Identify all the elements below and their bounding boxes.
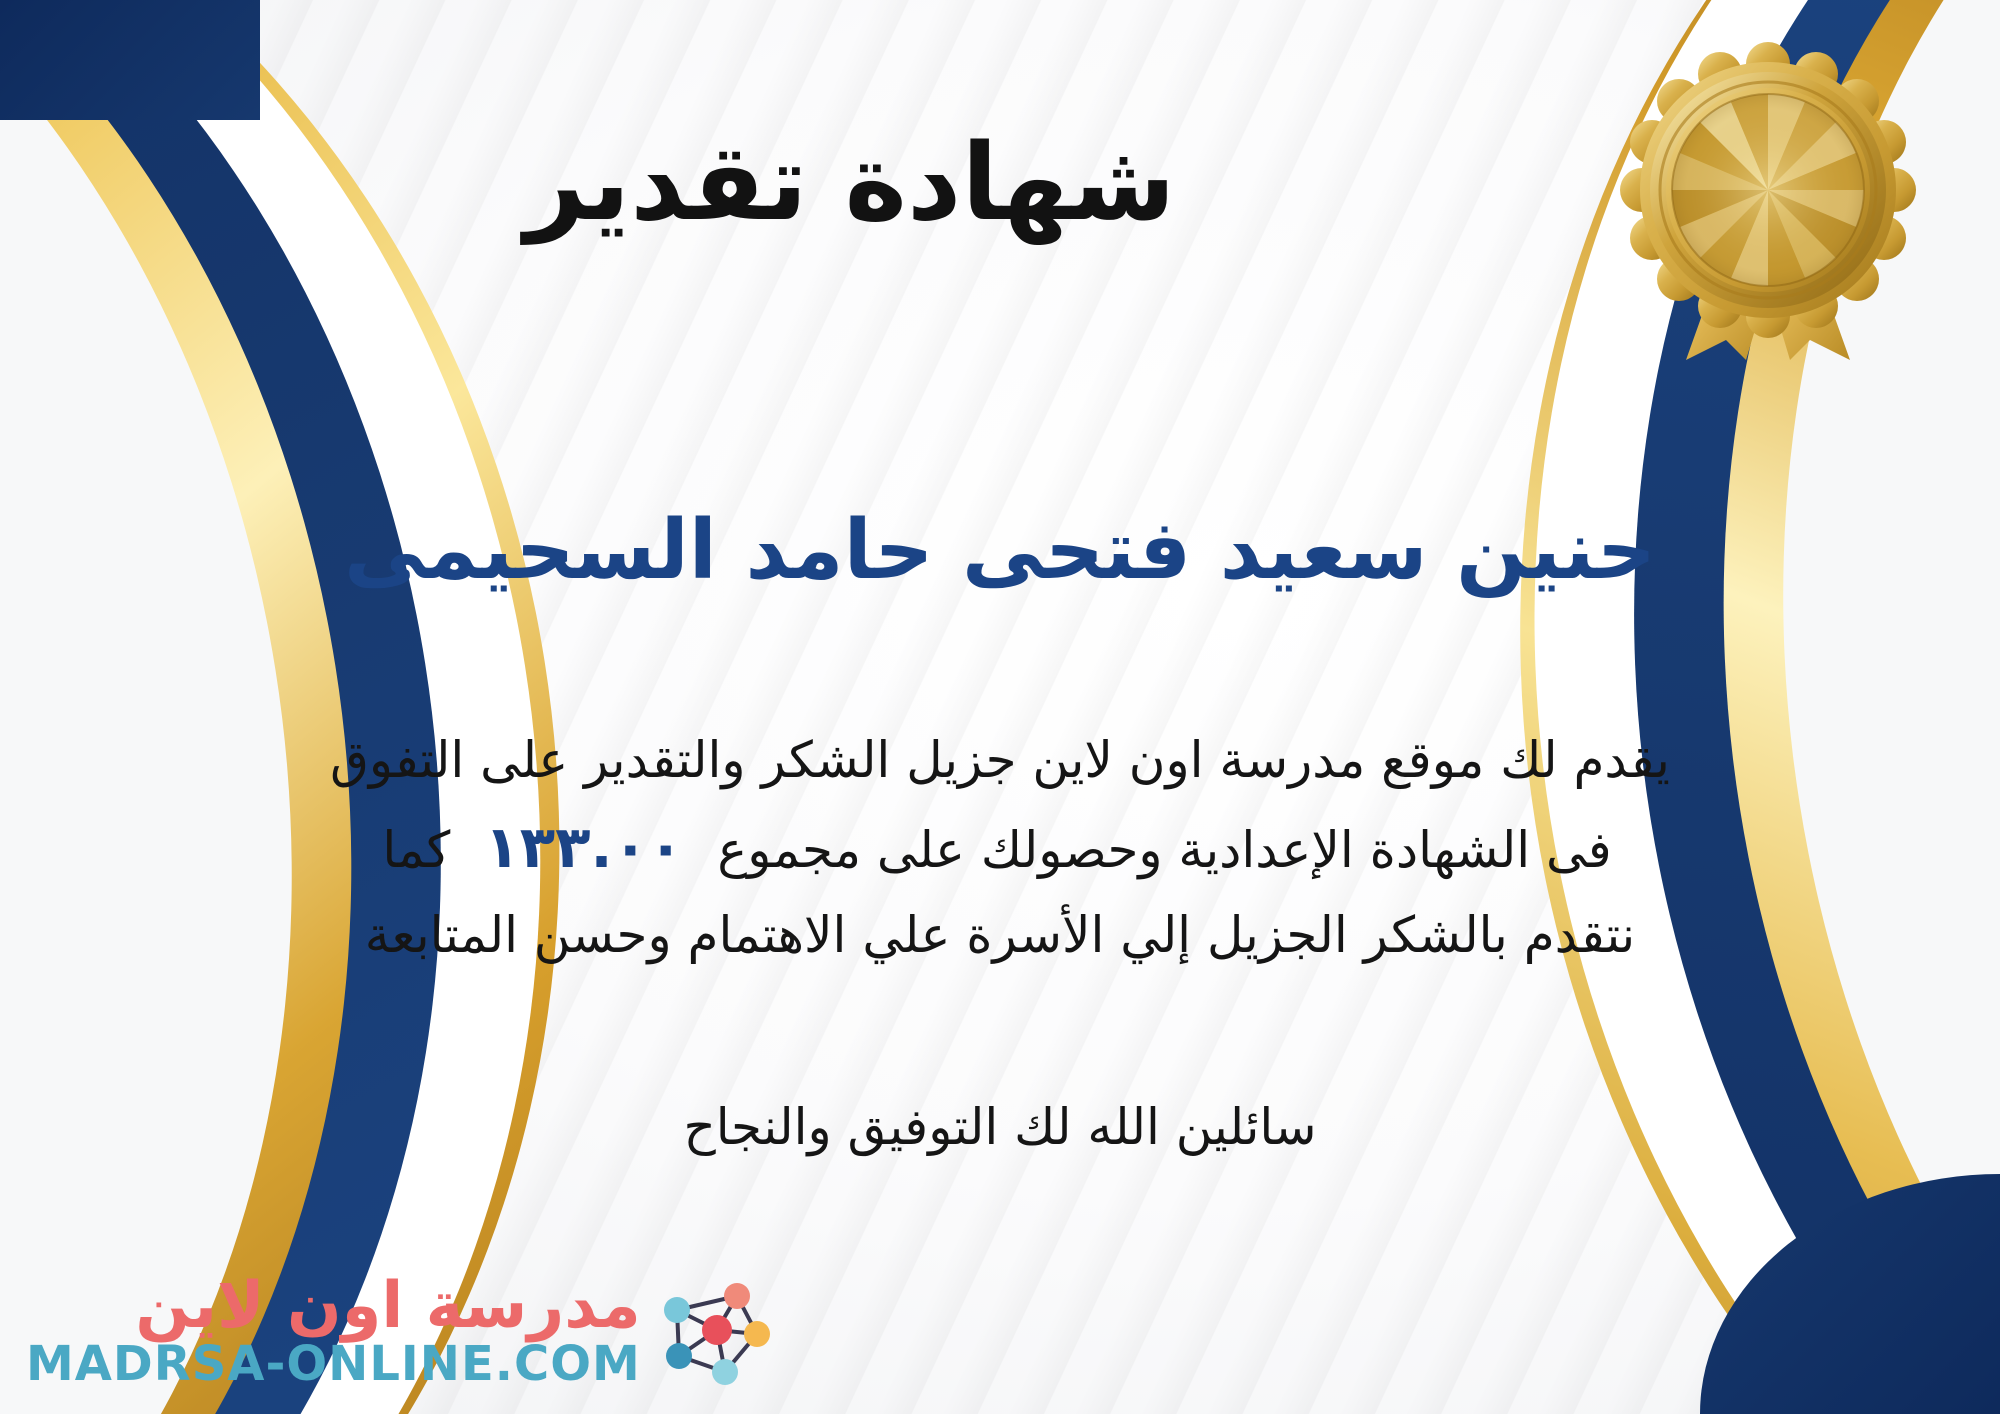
body-line-2-right-text: فى الشهادة الإعدادية وحصولك على مجموع	[717, 810, 1611, 891]
closing-wish-text: سائلين الله لك التوفيق والنجاح	[0, 1090, 2000, 1165]
brand-name-arabic: مدرسة اون لاين	[135, 1274, 640, 1339]
brand-logo-text: مدرسة اون لاين MADRSA-ONLINE.COM	[26, 1274, 641, 1390]
body-line-1: يقدم لك موقع مدرسة اون لاين جزيل الشكر و…	[60, 720, 1940, 801]
brand-logo[interactable]: مدرسة اون لاين MADRSA-ONLINE.COM	[26, 1272, 775, 1392]
certificate-canvas: شهادة تقدير حنين سعيد فتحى حامد السحيمى …	[0, 0, 2000, 1414]
student-name: حنين سعيد فتحى حامد السحيمى	[0, 498, 2000, 605]
body-line-2: فى الشهادة الإعدادية وحصولك على مجموع ١٣…	[60, 801, 1940, 895]
body-line-3: نتقدم بالشكر الجزيل إلي الأسرة علي الاهت…	[60, 895, 1940, 976]
certificate-body: يقدم لك موقع مدرسة اون لاين جزيل الشكر و…	[0, 720, 2000, 976]
body-line-2-left-text: كما	[382, 810, 450, 891]
score-value: ١٣٣.٠٠	[484, 801, 683, 895]
brand-name-latin: MADRSA-ONLINE.COM	[26, 1339, 641, 1390]
certificate-title: شهادة تقدير	[0, 118, 2000, 247]
network-nodes-icon	[655, 1272, 775, 1392]
certificate-content: شهادة تقدير حنين سعيد فتحى حامد السحيمى …	[0, 0, 2000, 1414]
